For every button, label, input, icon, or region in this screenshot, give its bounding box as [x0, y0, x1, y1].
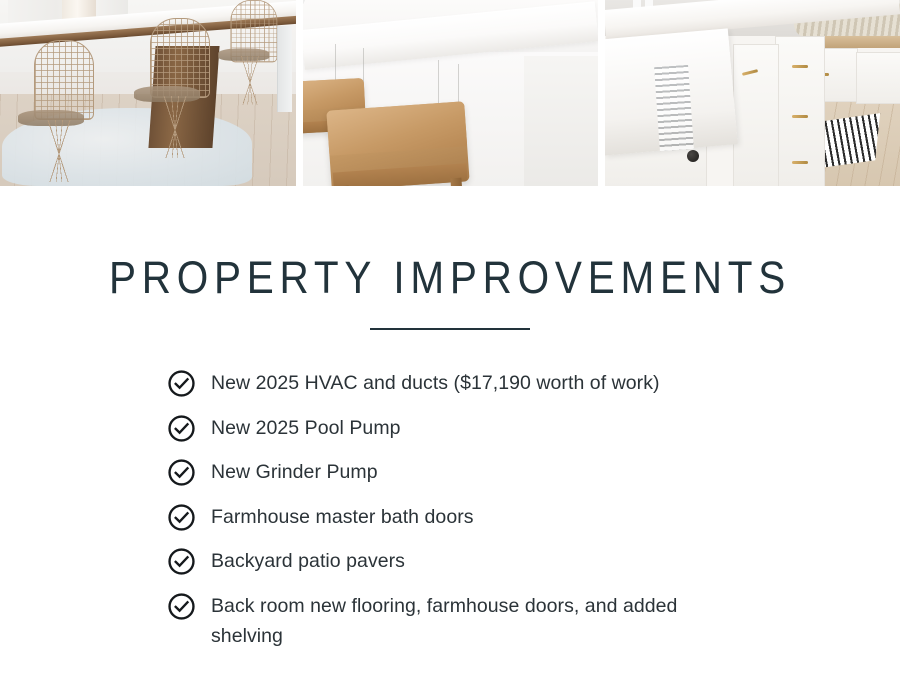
- list-item-label: Back room new flooring, farmhouse doors,…: [211, 591, 751, 651]
- list-item-label: Farmhouse master bath doors: [211, 502, 474, 532]
- check-circle-icon: [167, 503, 196, 532]
- title-divider: [370, 328, 530, 330]
- list-item-label: New 2025 Pool Pump: [211, 413, 401, 443]
- kitchen-sink-photo: [605, 0, 900, 186]
- photo-gap: [296, 0, 303, 186]
- list-item: Backyard patio pavers: [167, 546, 900, 576]
- check-circle-icon: [167, 414, 196, 443]
- check-circle-icon: [167, 547, 196, 576]
- list-item: Back room new flooring, farmhouse doors,…: [167, 591, 900, 651]
- list-item: New 2025 Pool Pump: [167, 413, 900, 443]
- photo-gap: [598, 0, 605, 186]
- dining-room-photo: [0, 0, 296, 186]
- list-item-label: Backyard patio pavers: [211, 546, 405, 576]
- improvements-list: New 2025 HVAC and ducts ($17,190 worth o…: [0, 368, 900, 651]
- list-item: New Grinder Pump: [167, 457, 900, 487]
- page-title: PROPERTY IMPROVEMENTS: [45, 186, 855, 304]
- property-improvements-page: PROPERTY IMPROVEMENTS New 2025 HVAC and …: [0, 0, 900, 675]
- photo-strip: [0, 0, 900, 186]
- check-circle-icon: [167, 458, 196, 487]
- list-item: Farmhouse master bath doors: [167, 502, 900, 532]
- content-area: PROPERTY IMPROVEMENTS New 2025 HVAC and …: [0, 186, 900, 665]
- check-circle-icon: [167, 592, 196, 621]
- kitchen-island-photo: [303, 0, 598, 186]
- list-item-label: New 2025 HVAC and ducts ($17,190 worth o…: [211, 368, 660, 398]
- list-item-label: New Grinder Pump: [211, 457, 378, 487]
- list-item: New 2025 HVAC and ducts ($17,190 worth o…: [167, 368, 900, 398]
- check-circle-icon: [167, 369, 196, 398]
